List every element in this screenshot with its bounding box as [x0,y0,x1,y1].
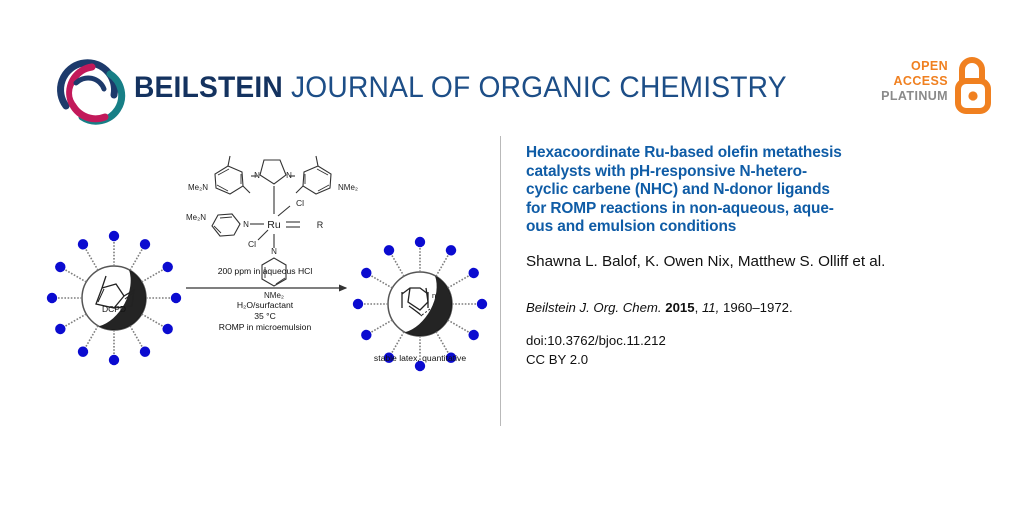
carbene-substituent-label: R [317,220,324,230]
article-title[interactable]: Hexacoordinate Ru-based olefin metathesi… [526,144,966,237]
citation-journal: Beilstein J. Org. Chem. [526,300,662,315]
citation-pages: 1960–1972. [723,300,793,315]
arrow-condition-below-1: H₂O/surfactant [237,300,294,310]
oa-line-open: OPEN [881,59,948,74]
dcpd-core-label: DCPD [102,304,126,314]
svg-text:NMe₂: NMe₂ [264,291,284,300]
journal-wordmark: BEILSTEIN JOURNAL OF ORGANIC CHEMISTRY [134,70,787,106]
svg-text:Cl: Cl [296,198,304,208]
open-access-lock-icon [952,57,994,115]
article-authors: Shawna L. Balof, K. Owen Nix, Matthew S.… [526,251,966,273]
ruthenium-catalyst-structure: N N Me₂N [186,156,358,300]
article-card: BEILSTEIN JOURNAL OF ORGANIC CHEMISTRY O… [0,0,1024,512]
svg-text:Me₂N: Me₂N [186,213,206,222]
dcpd-loaded-micelle: DCPD [47,231,181,365]
svg-text:Cl: Cl [248,239,256,249]
oa-line-platinum: PLATINUM [881,89,948,104]
arrow-condition-below-2: 35 °C [254,311,276,321]
beilstein-circle-logo [52,57,126,129]
svg-text:N: N [271,247,277,256]
citation-year: 2015 [665,300,694,315]
open-access-text: OPEN ACCESS PLATINUM [881,59,948,104]
graphical-abstract: DCPD N N Me₂N [28,136,496,392]
wordmark-beilstein: BEILSTEIN [134,71,283,104]
title-line-2: catalysts with pH-responsive N-hetero- [526,163,807,180]
journal-header: BEILSTEIN JOURNAL OF ORGANIC CHEMISTRY O… [0,0,1024,136]
title-line-4: for ROMP reactions in non-aqueous, aque- [526,200,834,217]
title-line-1: Hexacoordinate Ru-based olefin metathesi… [526,144,842,161]
citation-volume: 11, [702,300,719,315]
oa-line-access: ACCESS [881,74,948,89]
title-line-5: ous and emulsion conditions [526,218,736,235]
polymer-repeat-label: n [432,291,436,300]
article-doi[interactable]: doi:10.3762/bjoc.11.212 [526,331,966,350]
title-line-3: cyclic carbene (NHC) and N-donor ligands [526,181,830,198]
arrow-condition-below-3: ROMP in microemulsion [219,322,312,332]
arrow-condition-above: 200 ppm in aqueous HCl [218,266,313,276]
open-access-badge: OPEN ACCESS PLATINUM [884,57,994,119]
wordmark-subtitle: JOURNAL OF ORGANIC CHEMISTRY [291,71,787,104]
svg-text:NMe₂: NMe₂ [338,183,358,192]
column-divider [500,136,501,426]
article-license[interactable]: CC BY 2.0 [526,350,966,369]
svg-text:Me₂N: Me₂N [188,183,208,192]
article-citation: Beilstein J. Org. Chem. 2015, 11, 1960–1… [526,299,966,317]
metal-center-label: Ru [267,219,281,231]
latex-caption: stable latex, quantitative [374,353,466,363]
polymer-latex-micelle: n stable latex, quantitative [353,237,487,371]
svg-text:N: N [243,220,249,229]
article-metadata-column: Hexacoordinate Ru-based olefin metathesi… [526,144,966,369]
